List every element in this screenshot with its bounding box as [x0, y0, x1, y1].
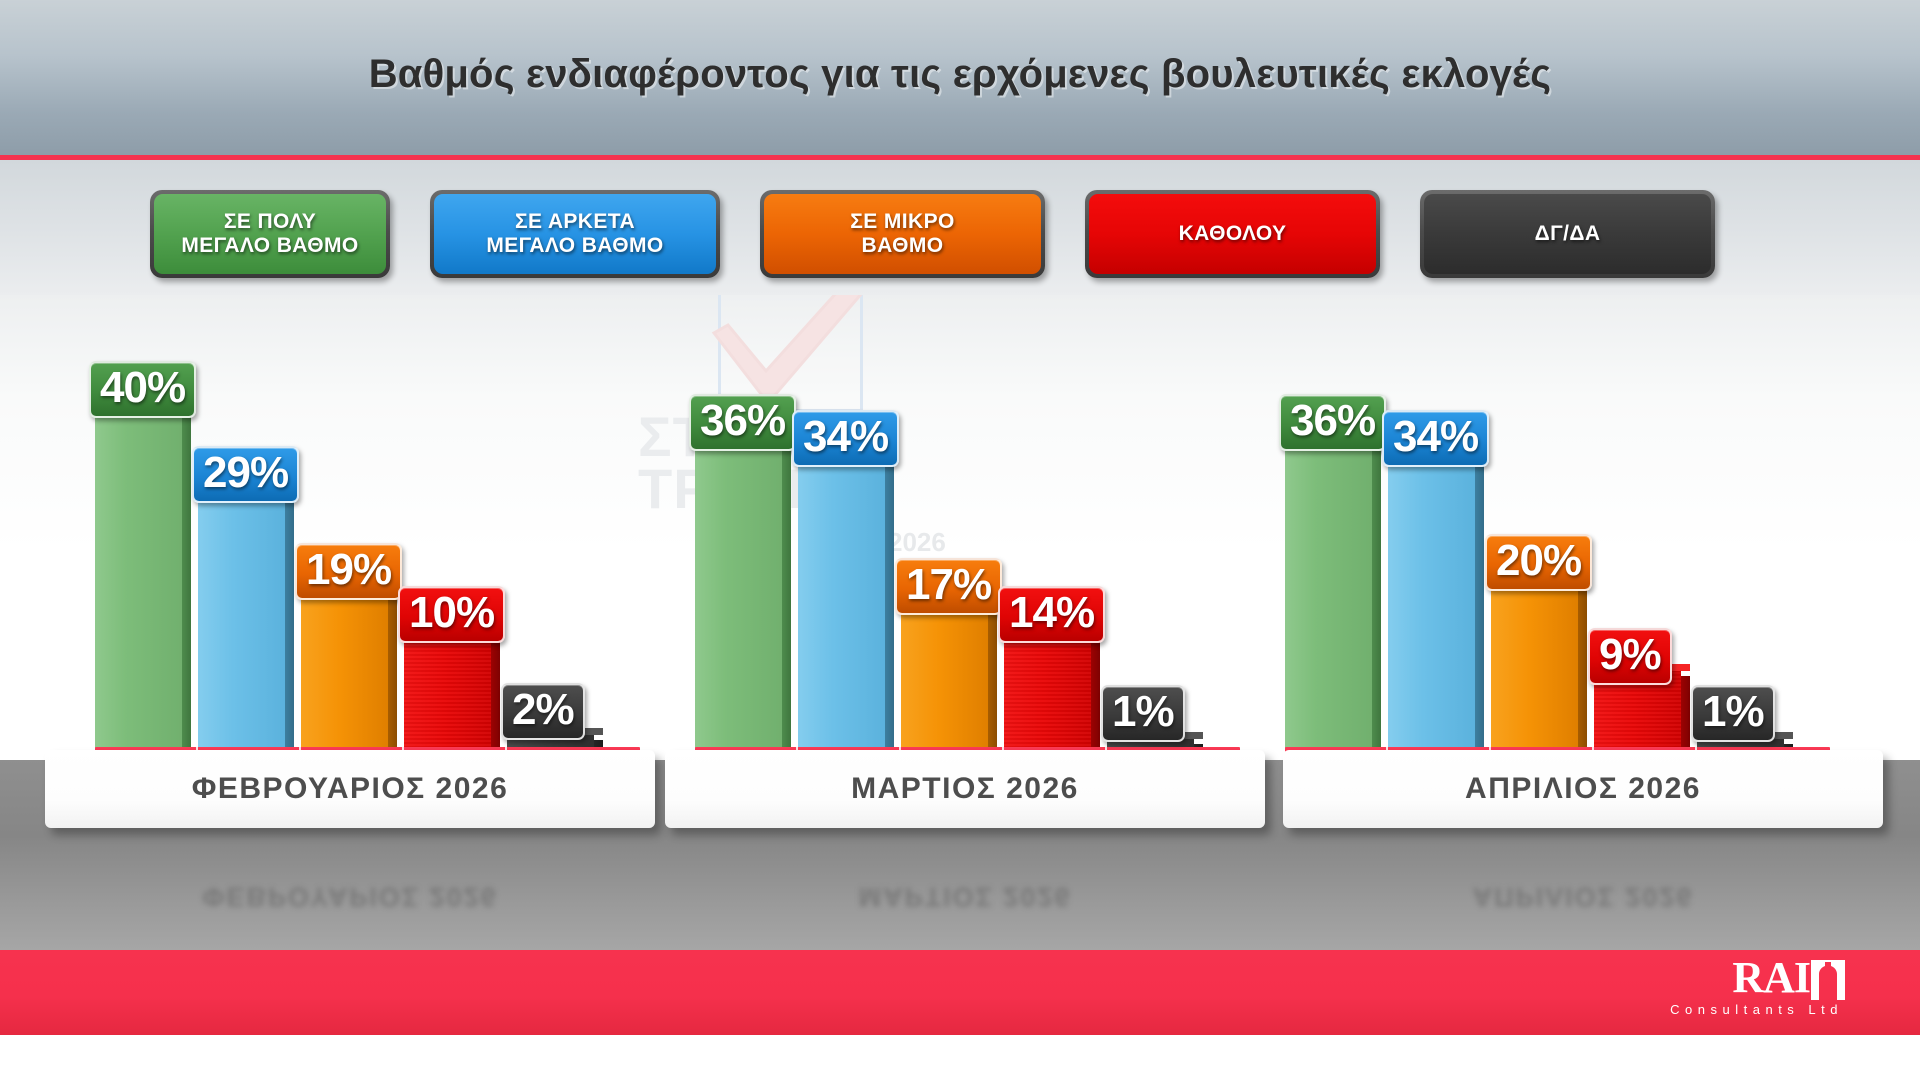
bar-slot: 9% [1594, 348, 1697, 748]
plot-area: ΣΤΡΟΦΗ ΤΡΗΣΗ 2026 40% 29% [0, 295, 1920, 760]
bar-value-label: 29% [192, 446, 299, 503]
legend: ΣΕ ΠΟΛΥ ΜΕΓΑΛΟ ΒΑΘΜΟ ΣΕ ΑΡΚΕΤΑ ΜΕΓΑΛΟ ΒΑ… [150, 190, 1715, 278]
bar-slot: 1% [1107, 348, 1210, 748]
bar-slot: 10% [404, 348, 507, 748]
bar-value-label: 17% [895, 558, 1002, 615]
poll-chart-slide: Βαθμός ενδιαφέροντος για τις ερχόμενες β… [0, 0, 1920, 1080]
bar-small-degree[interactable] [901, 600, 997, 748]
bar-slot: 2% [507, 348, 610, 748]
bar-slot: 36% [1285, 348, 1388, 748]
bar-fairly-large-degree[interactable] [798, 452, 894, 748]
bar-slot: 20% [1491, 348, 1594, 748]
legend-item-dk-na[interactable]: ΔΓ/ΔΑ [1420, 190, 1715, 278]
bar-value-label: 2% [501, 683, 585, 740]
bar-slot: 34% [798, 348, 901, 748]
page-title: Βαθμός ενδιαφέροντος για τις ερχόμενες β… [0, 52, 1920, 97]
bar-slot: 34% [1388, 348, 1491, 748]
month-label-reflection: ΑΠΡΙΛΙΟΣ 2026 [1283, 860, 1883, 912]
legend-item-label: ΣΕ ΑΡΚΕΤΑ ΜΕΓΑΛΟ ΒΑΘΜΟ [434, 194, 716, 274]
bar-slot: 36% [695, 348, 798, 748]
bar-value-label: 1% [1691, 685, 1775, 742]
bar-value-label: 40% [89, 361, 196, 418]
bar-slot: 29% [198, 348, 301, 748]
bar-value-label: 34% [1382, 410, 1489, 467]
bar-very-large-degree[interactable] [695, 436, 791, 748]
bar-slot: 17% [901, 348, 1004, 748]
bar-small-degree[interactable] [1491, 576, 1587, 748]
bar-not-at-all[interactable] [404, 628, 500, 748]
legend-item-label: ΣΕ ΠΟΛΥ ΜΕΓΑΛΟ ΒΑΘΜΟ [154, 194, 386, 274]
bar-group-february: 40% 29% 19% [95, 295, 640, 760]
legend-item-label: ΚΑΘΟΛΟΥ [1089, 194, 1376, 274]
bar-slot: 14% [1004, 348, 1107, 748]
bar-value-label: 14% [998, 586, 1105, 643]
logo-tagline: Consultants Ltd [1670, 1002, 1845, 1017]
bar-not-at-all[interactable] [1004, 628, 1100, 748]
bar-value-label: 10% [398, 586, 505, 643]
footer-bar: RAI Consultants Ltd [0, 950, 1920, 1035]
bar-group-april: 36% 34% 20% [1285, 295, 1830, 760]
x-axis-label-april: ΑΠΡΙΛΙΟΣ 2026 [1283, 750, 1883, 828]
bar-value-label: 20% [1485, 534, 1592, 591]
bar-slot: 19% [301, 348, 404, 748]
x-axis-label-february: ΦΕΒΡΟΥΑΡΙΟΣ 2026 [45, 750, 655, 828]
month-label-reflection: ΜΑΡΤΙΟΣ 2026 [665, 860, 1265, 912]
chess-rook-icon [1811, 960, 1845, 1000]
bar-value-label: 36% [689, 394, 796, 451]
bar-value-label: 34% [792, 410, 899, 467]
month-label-reflection: ΦΕΒΡΟΥΑΡΙΟΣ 2026 [45, 860, 655, 912]
bar-value-label: 9% [1588, 628, 1672, 685]
bar-group-march: 36% 34% 17% [695, 295, 1240, 760]
bar-very-large-degree[interactable] [1285, 436, 1381, 748]
bar-very-large-degree[interactable] [95, 403, 191, 748]
bar-value-label: 19% [295, 543, 402, 600]
logo-name: RAI [1732, 956, 1810, 1000]
brand-logo: RAI Consultants Ltd [1670, 956, 1845, 1017]
bar-fairly-large-degree[interactable] [1388, 452, 1484, 748]
bar-small-degree[interactable] [301, 585, 397, 748]
legend-item-not-at-all[interactable]: ΚΑΘΟΛΟΥ [1085, 190, 1380, 278]
bar-value-label: 1% [1101, 685, 1185, 742]
bar-slot: 40% [95, 348, 198, 748]
legend-item-label: ΣΕ ΜΙΚΡΟ ΒΑΘΜΟ [764, 194, 1041, 274]
legend-item-very-large-degree[interactable]: ΣΕ ΠΟΛΥ ΜΕΓΑΛΟ ΒΑΘΜΟ [150, 190, 390, 278]
bar-slot: 1% [1697, 348, 1800, 748]
x-axis-label-march: ΜΑΡΤΙΟΣ 2026 [665, 750, 1265, 828]
bar-fairly-large-degree[interactable] [198, 488, 294, 748]
legend-band: ΣΕ ΠΟΛΥ ΜΕΓΑΛΟ ΒΑΘΜΟ ΣΕ ΑΡΚΕΤΑ ΜΕΓΑΛΟ ΒΑ… [0, 160, 1920, 295]
logo-wordmark: RAI [1670, 956, 1845, 1000]
header-band: Βαθμός ενδιαφέροντος για τις ερχόμενες β… [0, 0, 1920, 158]
legend-item-small-degree[interactable]: ΣΕ ΜΙΚΡΟ ΒΑΘΜΟ [760, 190, 1045, 278]
footer-spacer [0, 1035, 1920, 1080]
legend-item-label: ΔΓ/ΔΑ [1424, 194, 1711, 274]
bar-value-label: 36% [1279, 394, 1386, 451]
legend-item-fairly-large-degree[interactable]: ΣΕ ΑΡΚΕΤΑ ΜΕΓΑΛΟ ΒΑΘΜΟ [430, 190, 720, 278]
